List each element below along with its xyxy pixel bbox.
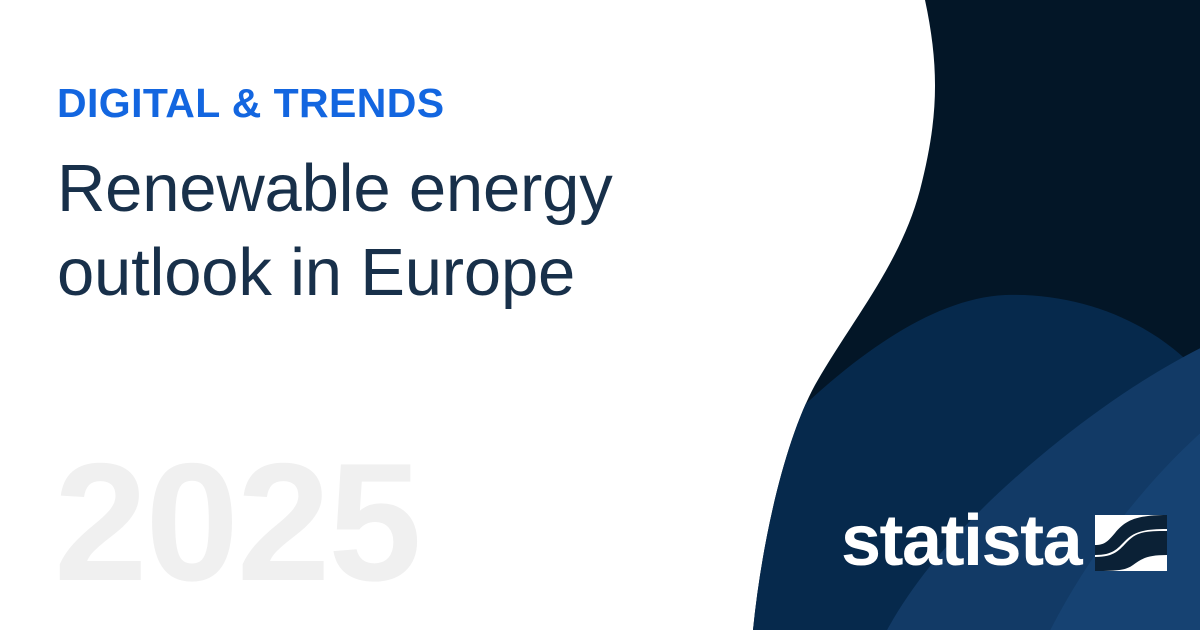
eyebrow-label: DIGITAL & TRENDS bbox=[57, 82, 697, 125]
statista-wordmark: statista bbox=[841, 505, 1081, 577]
statista-s-curve-logomark bbox=[1095, 515, 1167, 571]
statista-logo[interactable]: statista bbox=[841, 505, 1167, 581]
accent-shape-light bbox=[860, 330, 1200, 630]
year-watermark: 2025 bbox=[54, 438, 420, 606]
text-block: DIGITAL & TRENDS Renewable energy outloo… bbox=[57, 82, 697, 316]
cover-canvas: 2025 DIGITAL & TRENDS Renewable energy o… bbox=[0, 0, 1200, 630]
page-title-line-1: Renewable energy bbox=[57, 147, 697, 231]
page-title: Renewable energy outlook in Europe bbox=[57, 147, 697, 316]
page-title-line-2: outlook in Europe bbox=[57, 231, 697, 315]
